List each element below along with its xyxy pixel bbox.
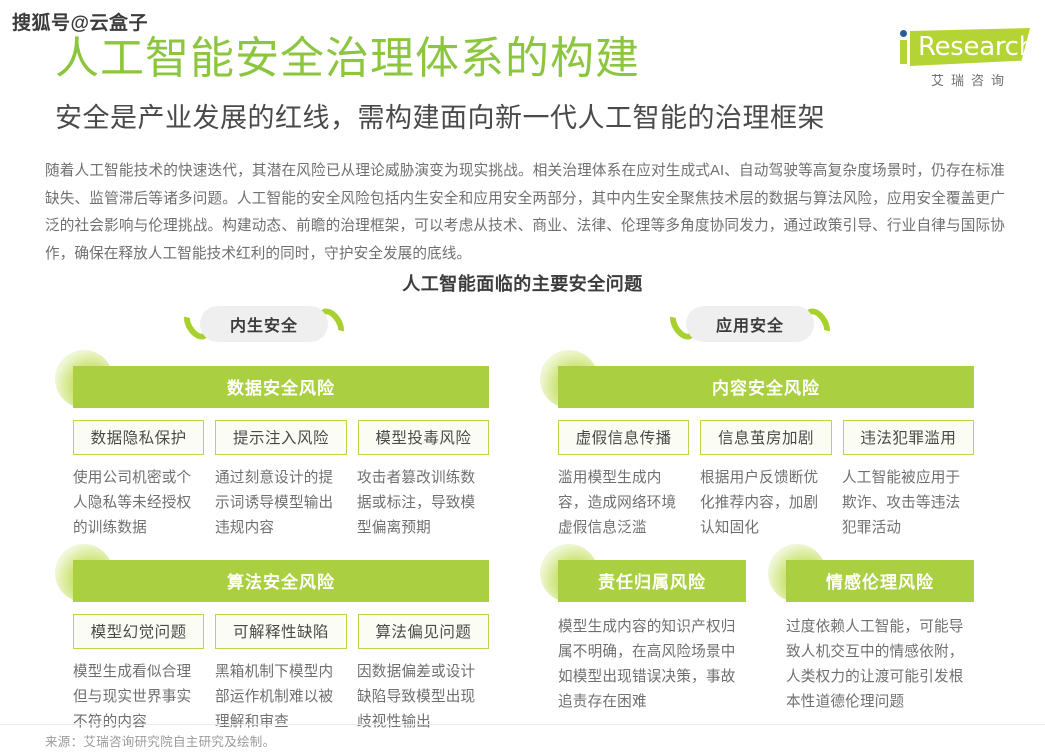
- card-header-data-security: 数据安全风险: [73, 366, 489, 408]
- desc-criminal-misuse: 人工智能被应用于欺诈、攻击等违法犯罪活动: [842, 466, 973, 541]
- description-row: 使用公司机密或个人隐私等未经授权的训练数据 通过刻意设计的提示词诱导模型输出违规…: [73, 466, 489, 541]
- card-header-emotion-ethics: 情感伦理风险: [786, 560, 974, 602]
- chip-model-hallucination[interactable]: 模型幻觉问题: [73, 614, 204, 649]
- desc-emotion-ethics: 过度依赖人工智能，可能导致人机交互中的情感依附，人类权力的让渡可能引发根本性道德…: [786, 615, 974, 715]
- chip-algorithmic-bias[interactable]: 算法偏见问题: [358, 614, 489, 649]
- chip-row: 模型幻觉问题 可解释性缺陷 算法偏见问题: [73, 614, 489, 649]
- infographic-page: 搜狐号@云盒子 Research 艾瑞咨询 人工智能安全治理体系的构建 安全是产…: [0, 0, 1045, 752]
- pill-intrinsic-security[interactable]: 内生安全: [200, 306, 328, 342]
- pill-group-intrinsic-security: 内生安全: [186, 306, 342, 342]
- page-title: 人工智能安全治理体系的构建: [55, 33, 640, 85]
- logo-chinese-name: 艾瑞咨询: [912, 70, 1030, 89]
- logo-i-dot-icon: [900, 30, 907, 37]
- desc-misinformation: 滥用模型生成内容，造成网络环境虚假信息泛滥: [558, 466, 689, 541]
- chip-misinformation[interactable]: 虚假信息传播: [558, 420, 689, 455]
- section-title: 人工智能面临的主要安全问题: [0, 270, 1045, 296]
- logo-mark: Research: [890, 26, 1030, 68]
- desc-data-privacy: 使用公司机密或个人隐私等未经授权的训练数据: [73, 466, 204, 541]
- page-subtitle: 安全是产业发展的红线，需构建面向新一代人工智能的治理框架: [55, 100, 825, 136]
- chip-model-poisoning[interactable]: 模型投毒风险: [358, 420, 489, 455]
- chip-criminal-misuse[interactable]: 违法犯罪滥用: [843, 420, 974, 455]
- chip-explainability-gap[interactable]: 可解释性缺陷: [215, 614, 346, 649]
- card-group-responsibility: 责任归属风险 模型生成内容的知识产权归属不明确，在高风险场景中如模型出现错误决策…: [558, 560, 746, 715]
- desc-model-poisoning: 攻击者篡改训练数据或标注，导致模型偏离预期: [357, 466, 488, 541]
- desc-responsibility: 模型生成内容的知识产权归属不明确，在高风险场景中如模型出现错误决策，事故追责存在…: [558, 615, 746, 715]
- chip-row: 虚假信息传播 信息茧房加剧 违法犯罪滥用: [558, 420, 974, 455]
- card-header-responsibility: 责任归属风险: [558, 560, 746, 602]
- card-group-algorithm-security: 算法安全风险 模型幻觉问题 可解释性缺陷 算法偏见问题 模型生成看似合理但与现实…: [73, 560, 489, 735]
- logo-i-stem-icon: [900, 40, 907, 64]
- pill-group-application-security: 应用安全: [672, 306, 828, 342]
- logo-wordmark: Research: [918, 32, 1035, 62]
- source-note: 来源：艾瑞咨询研究院自主研究及绘制。: [45, 731, 275, 750]
- card-group-emotion-ethics: 情感伦理风险 过度依赖人工智能，可能导致人机交互中的情感依附，人类权力的让渡可能…: [786, 560, 974, 715]
- footer-divider: [0, 724, 1045, 725]
- chip-row: 数据隐私保护 提示注入风险 模型投毒风险: [73, 420, 489, 455]
- desc-filter-bubble: 根据用户反馈断优化推荐内容，加剧认知固化: [700, 466, 831, 541]
- iresearch-logo: Research 艾瑞咨询: [890, 26, 1035, 88]
- chip-filter-bubble[interactable]: 信息茧房加剧: [700, 420, 831, 455]
- pill-application-security[interactable]: 应用安全: [686, 306, 814, 342]
- desc-prompt-injection: 通过刻意设计的提示词诱导模型输出违规内容: [215, 466, 346, 541]
- card-group-content-security: 内容安全风险 虚假信息传播 信息茧房加剧 违法犯罪滥用 滥用模型生成内容，造成网…: [558, 366, 974, 541]
- chip-prompt-injection[interactable]: 提示注入风险: [215, 420, 346, 455]
- chip-data-privacy[interactable]: 数据隐私保护: [73, 420, 204, 455]
- card-group-data-security: 数据安全风险 数据隐私保护 提示注入风险 模型投毒风险 使用公司机密或个人隐私等…: [73, 366, 489, 541]
- intro-paragraph: 随着人工智能技术的快速迭代，其潜在风险已从理论威胁演变为现实挑战。相关治理体系在…: [45, 158, 1005, 268]
- card-header-algorithm-security: 算法安全风险: [73, 560, 489, 602]
- watermark-text: 搜狐号@云盒子: [12, 8, 148, 35]
- card-header-content-security: 内容安全风险: [558, 366, 974, 408]
- description-row: 滥用模型生成内容，造成网络环境虚假信息泛滥 根据用户反馈断优化推荐内容，加剧认知…: [558, 466, 974, 541]
